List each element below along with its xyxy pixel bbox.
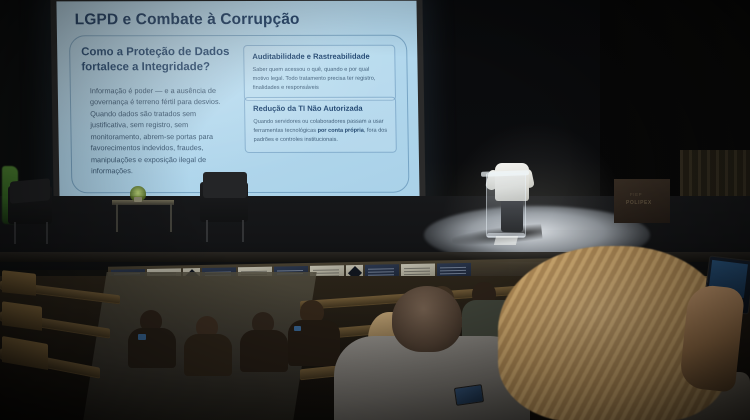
slide-question-line-2: fortalece a Integridade? [81,60,231,76]
slide-question-heading: Como a Proteção de Dados fortalece a Int… [81,45,231,76]
chair-leg [242,220,244,242]
slide-card-shadow-it: Redução da TI Não Autorizada Quando serv… [244,97,397,153]
slide-title: LGPD e Combate à Corrupção [75,11,300,29]
speaker-head [505,150,519,166]
plant-pot [134,197,142,202]
card-body-bold: por conta própria [318,128,364,134]
stage-chair-left-back [10,178,50,203]
table-leg [116,204,118,232]
card-heading: Redução da TI Não Autorizada [253,104,387,114]
phone-in-pocket [454,384,484,406]
grey-shirt-man-head [392,286,462,352]
seat-back [2,270,36,296]
hand-holding-phone [679,283,746,392]
slide-left-column: Como a Proteção de Dados fortalece a Int… [81,45,233,177]
slide-question-line-1: Como a Proteção de Dados [81,45,231,61]
audience-torso [184,334,232,376]
stage-sign-line-2: POLIPEX [626,200,652,206]
lectern-paper [494,236,518,245]
slide-left-body: Informação é poder — e a ausência de gov… [90,85,233,177]
chair-leg [46,222,48,244]
table-leg [170,204,172,232]
auditorium-scene: LGPD e Combate à Corrupção Como a Proteç… [0,0,750,420]
card-body: Saber quem acessou o quê, quando e por q… [252,66,386,93]
presentation-slide: LGPD e Combate à Corrupção Como a Proteç… [56,1,419,198]
card-heading: Auditabilidade e Rastreabilidade [252,52,386,62]
acrylic-lectern [486,173,526,237]
audience-torso [240,330,288,372]
card-body: Quando servidores ou colaboradores passa… [253,118,387,145]
card-body-pre: Saber quem acessou o quê, quando e por q… [252,67,375,91]
slide-card-auditability: Auditabilidade e Rastreabilidade Saber q… [243,45,396,101]
audience-torso [128,328,176,368]
chair-leg [206,220,208,242]
stage-chair-right-back [203,172,247,198]
side-table [112,200,174,205]
phone-screen-glow [138,334,146,340]
chair-leg [14,222,16,244]
stage-sign-line-1: FIEP [630,192,642,197]
phone-screen-glow [294,326,301,331]
